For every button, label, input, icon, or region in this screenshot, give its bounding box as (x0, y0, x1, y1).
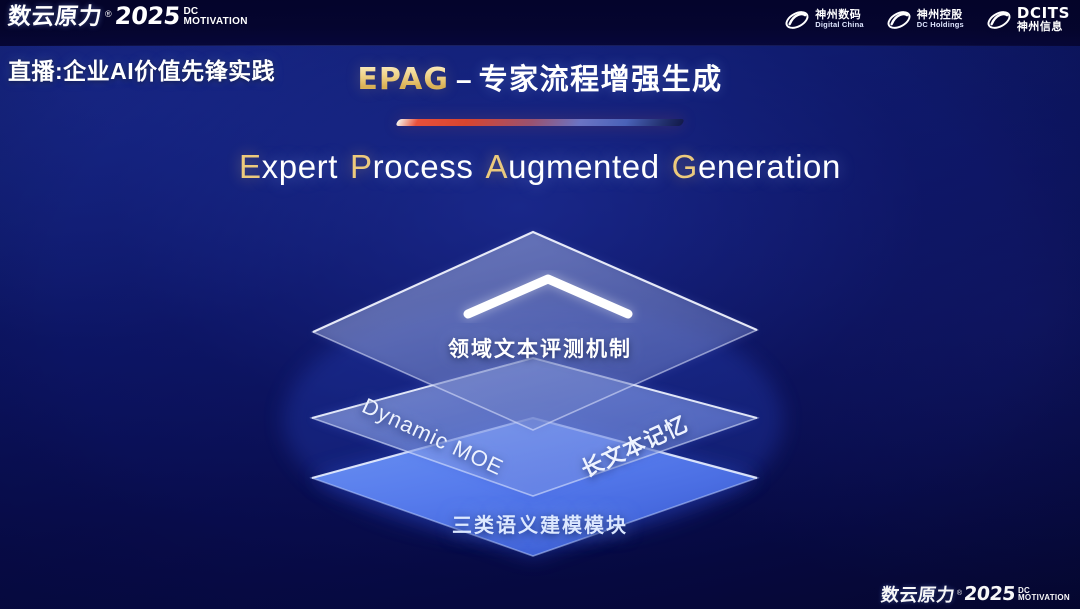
partner-label: 神州数码 Digital China (815, 10, 863, 29)
title-dash: – (456, 64, 472, 95)
swirl-logo-icon (886, 7, 912, 33)
brand-registered-icon: ® (105, 10, 112, 19)
partner-name-en: DCITS (1017, 6, 1070, 22)
swirl-logo-icon (784, 7, 810, 33)
swirl-logo-icon (986, 7, 1012, 33)
partner-name-en: DC Holdings (917, 21, 964, 29)
acronym-word-expert: Expert (239, 148, 338, 185)
brand-tagline: DC MOTIVATION (183, 7, 247, 26)
acronym-rest-g: eneration (698, 148, 841, 185)
acronym-initial-a: A (485, 148, 508, 185)
acronym-rest-e: xpert (262, 148, 338, 185)
partner-name-cn: 神州信息 (1017, 22, 1070, 34)
acronym-rest-p: rocess (373, 148, 474, 185)
partner-label: DCITS 神州信息 (1017, 6, 1070, 33)
title-divider (395, 119, 684, 126)
acronym-initial-g: G (672, 148, 698, 185)
partner-logo-dcits: DCITS 神州信息 (986, 6, 1070, 33)
acronym-initial-e: E (239, 148, 262, 185)
footer-watermark-logo: 数云原力 ® 2025 DC MOTIVATION (881, 585, 1070, 604)
watermark-name-cn: 数云原力 (880, 586, 956, 604)
acronym-expansion: ExpertProcessAugmentedGeneration (0, 148, 1080, 186)
partner-logo-dc-holdings: 神州控股 DC Holdings (886, 7, 964, 33)
acronym-word-process: Process (350, 148, 473, 185)
partner-label: 神州控股 DC Holdings (917, 10, 964, 29)
title-acronym: EPAG (357, 62, 449, 97)
partner-name-en: Digital China (815, 21, 863, 29)
acronym-initial-p: P (350, 148, 373, 185)
acronym-word-generation: Generation (672, 148, 841, 185)
partner-logo-group: 神州数码 Digital China 神州控股 DC Holdings (784, 6, 1070, 33)
brand-tag-motivation: MOTIVATION (183, 17, 247, 27)
acronym-rest-a: ugmented (508, 148, 660, 185)
slide-canvas: 数云原力 ® 2025 DC MOTIVATION 直播:企业AI价值先锋实践 … (0, 0, 1080, 609)
acronym-word-augmented: Augmented (485, 148, 659, 185)
brand-logo: 数云原力 ® 2025 DC MOTIVATION (8, 4, 248, 28)
watermark-tag-motivation: MOTIVATION (1018, 594, 1070, 602)
brand-year: 2025 (113, 4, 180, 28)
partner-logo-digital-china: 神州数码 Digital China (784, 7, 863, 33)
watermark-registered-icon: ® (957, 590, 962, 597)
brand-name-cn: 数云原力 (7, 5, 103, 28)
title-chinese: 专家流程增强生成 (479, 64, 723, 96)
watermark-tagline: DC MOTIVATION (1018, 587, 1070, 602)
live-broadcast-title: 直播:企业AI价值先锋实践 (8, 52, 275, 86)
watermark-year: 2025 (963, 585, 1016, 604)
